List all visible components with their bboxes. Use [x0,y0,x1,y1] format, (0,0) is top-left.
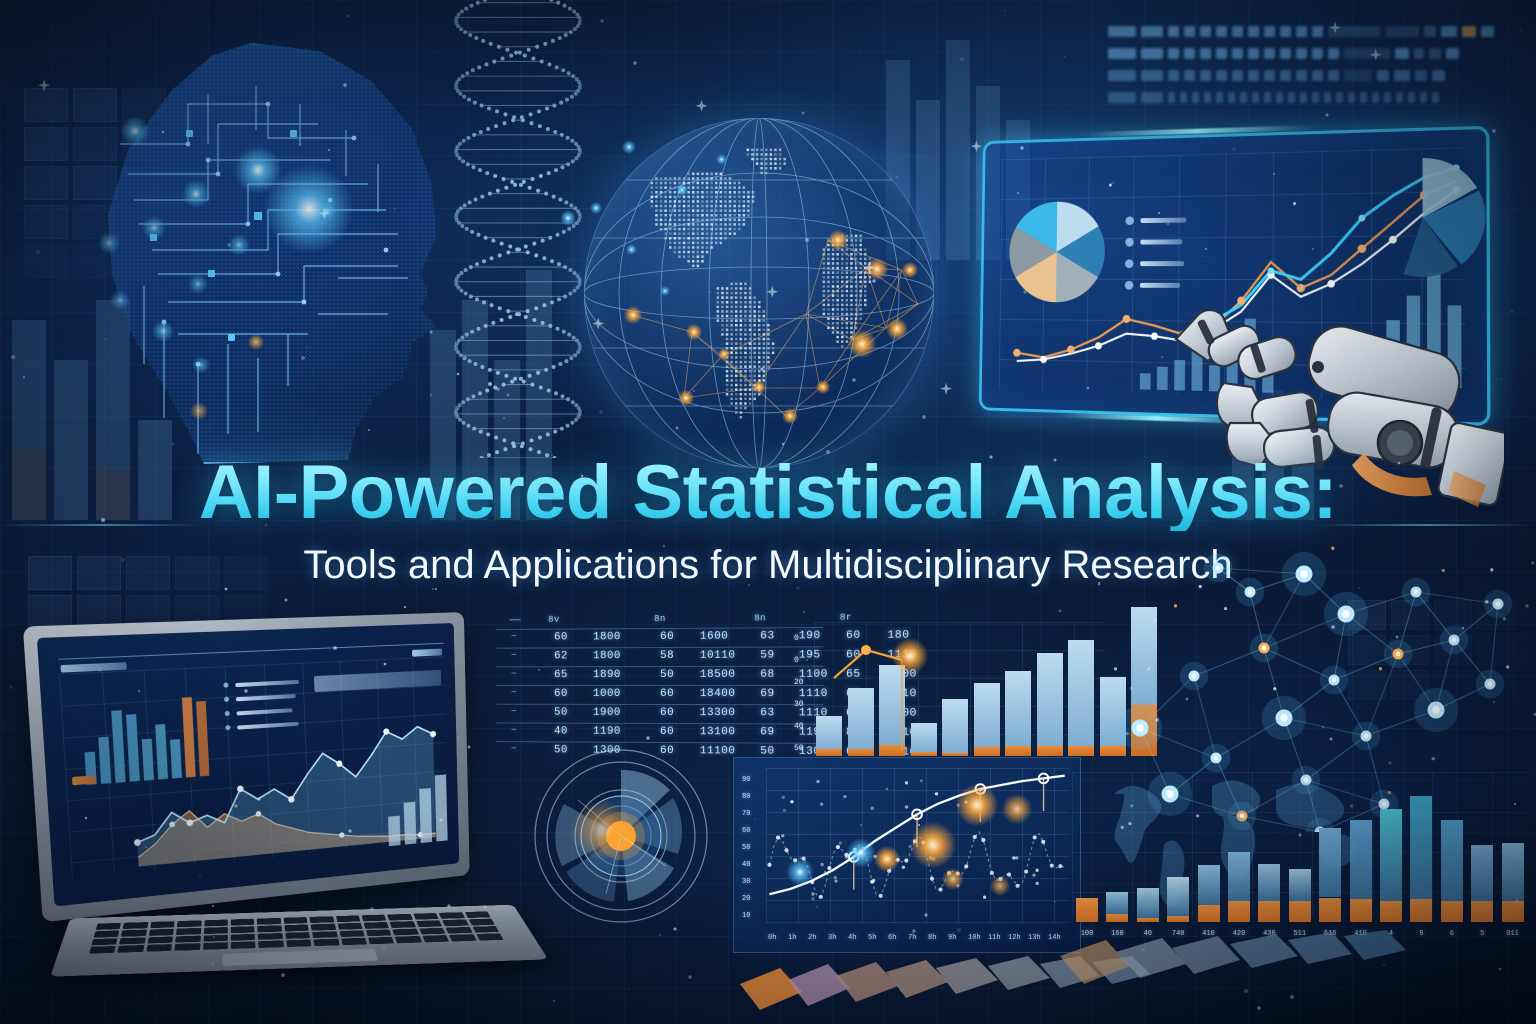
table-cell: 10110 [700,650,736,662]
x-axis-tick-label: 7h [908,934,916,942]
table-cell: 60 [660,707,674,719]
bar-segment-orange [1167,916,1189,922]
laptop-key[interactable] [203,942,228,949]
abstract-data-rows [1108,22,1528,126]
laptop-key[interactable] [148,936,174,943]
table-row-label: — [512,651,517,660]
table-cell: 58 [660,650,674,662]
laptop-key[interactable] [472,926,499,933]
cover-graphic: AI-Powered Statistical Analysis: Tools a… [0,0,1536,1024]
laptop-key[interactable] [123,922,148,929]
x-axis-tick-label: 011 [1502,930,1524,938]
table-cell: 59 [760,650,774,662]
laptop-key[interactable] [468,918,495,925]
laptop-key[interactable] [118,945,145,953]
table-cell: 60 [554,632,568,644]
tilted-pane-row-right [1060,926,1480,1024]
bar-segment-blue [1198,865,1220,905]
bar-segment-orange [1350,899,1372,922]
laptop-key[interactable] [309,916,334,923]
laptop-key[interactable] [231,934,256,941]
laptop-key[interactable] [283,917,307,924]
table-cell: 68 [760,669,774,681]
page-title: AI-Powered Statistical Analysis: [0,455,1536,531]
laptop-key[interactable] [258,925,282,932]
bar-segment-orange [1076,898,1098,923]
table-cell: 69 [760,688,774,700]
table-cell: 63 [760,707,774,719]
y-axis-tick-label: 60 [742,827,750,835]
laptop-key[interactable] [176,928,201,935]
bar [1350,820,1372,922]
bar-segment-blue [1167,877,1189,917]
mid-chart-overlay-line [810,616,1110,766]
table-row-divider [496,722,823,724]
bar-segment-orange [1502,901,1524,922]
x-axis-tick-label: 6h [888,934,896,942]
bar-segment-orange [1198,905,1220,922]
laptop-key[interactable] [91,938,118,945]
laptop-key[interactable] [341,938,367,945]
bottom-right-stacked-bar-chart: 100160407404104204305116164104965011 [1062,772,1536,948]
bar [1380,809,1402,922]
bar [1137,888,1159,922]
laptop-key[interactable] [231,926,255,933]
table-cell: 18500 [700,669,736,681]
mid-stacked-bar-chart: 0020304050 [792,616,1110,774]
table-cell: 60 [660,688,674,700]
table-row-label: — [512,707,517,716]
table-cell: 69 [760,726,774,738]
laptop-key[interactable] [177,920,201,927]
y-axis-tick-label: 30 [742,878,750,886]
table-row-divider [496,741,823,744]
laptop-trackpad[interactable] [221,948,379,966]
bar-segment-orange [1319,898,1341,923]
bar [1289,869,1311,922]
legend-bullet [224,697,229,702]
laptop-key[interactable] [366,929,392,936]
laptop-keys[interactable] [89,911,503,953]
laptop-key[interactable] [258,933,283,940]
table-cell: 60 [660,631,674,643]
laptop-key[interactable] [231,919,255,926]
screen-header-value [412,649,442,657]
table-cell: 1190 [593,726,621,738]
laptop-device [18,620,538,1024]
table-row-divider [496,685,823,686]
table-cell: 50 [760,746,774,758]
laptop-key[interactable] [464,911,490,918]
laptop-key[interactable] [337,923,362,930]
table-row-label: — [512,725,517,734]
y-axis-tick-label: 20 [794,678,804,687]
x-axis-tick-label: 3h [828,934,836,942]
x-axis-tick-label: 12h [1008,934,1021,942]
bar-segment-blue [1380,809,1402,901]
laptop-key[interactable] [361,915,386,922]
bar-segment-orange [1471,901,1493,922]
bar-segment-blue [1106,892,1128,915]
bar [1106,892,1128,922]
bar-segment-orange [1410,899,1432,922]
laptop-key[interactable] [284,924,309,931]
laptop-yaxis-highlight [72,775,96,785]
laptop-key[interactable] [204,920,228,927]
laptop-key[interactable] [121,929,147,936]
laptop-key[interactable] [476,933,503,940]
y-axis-tick-label: 70 [742,810,750,818]
bar-segment-blue [1228,852,1250,901]
table-row-divider [496,666,823,668]
y-axis-tick-label: 40 [742,861,750,869]
x-axis-tick-label: 14h [1048,934,1061,942]
laptop-key[interactable] [390,921,416,928]
laptop-key[interactable] [442,919,468,926]
table-cell: 1890 [593,669,621,681]
laptop-key[interactable] [395,936,422,943]
x-axis-tick-label: 10h [968,934,981,942]
bar-segment-orange [1441,901,1463,922]
bar-segment-orange [1258,901,1280,922]
y-axis-tick-label: 50 [742,844,750,852]
bar-segment-blue [1350,820,1372,899]
table-cell: 62 [554,650,568,662]
laptop-key[interactable] [419,928,445,935]
x-axis-tick-label: 2h [808,934,816,942]
y-axis-tick-label: 0 [794,634,799,643]
laptop-key[interactable] [393,928,419,935]
table-cell: 50 [660,669,674,681]
bar-segment-orange [1106,914,1128,922]
laptop-key[interactable] [259,941,284,948]
laptop-key[interactable] [339,930,365,937]
table-column-header: 8n [754,613,766,623]
table-column-header: —— [510,615,521,625]
laptop-key[interactable] [231,941,256,948]
laptop-key[interactable] [313,939,339,946]
table-row-label: — [512,744,517,753]
laptop-key[interactable] [257,918,281,925]
laptop-key[interactable] [368,937,394,944]
bar [1319,828,1341,922]
bar-segment-blue [1502,843,1524,901]
y-axis-tick-label: 40 [794,722,804,731]
table-row-label: — [512,688,517,697]
table-cell: 60 [660,726,674,738]
y-axis-tick-label: 20 [742,895,750,903]
table-column-header: 8v [548,615,559,625]
y-axis-tick-label: 80 [742,793,750,801]
y-axis-tick-label: 50 [794,744,804,753]
laptop-key[interactable] [89,946,116,954]
laptop-screen[interactable] [37,623,459,906]
bar [1228,852,1250,922]
laptop-key[interactable] [175,943,201,951]
bar-segment-blue [1289,869,1311,901]
x-axis-tick-label: 11h [988,934,1001,942]
bar [1167,877,1189,922]
bar [1198,865,1220,922]
table-cell: 1000 [593,688,621,700]
laptop-lid [23,612,470,922]
table-cell: 1600 [700,631,728,643]
wireframe-globe [566,118,962,458]
dashboard-pie-chart-secondary [1356,151,1491,284]
legend-bullet [223,682,228,687]
laptop-key[interactable] [285,932,310,939]
laptop-key[interactable] [446,927,473,934]
laptop-key[interactable] [94,930,120,937]
bar-segment-blue [1319,828,1341,898]
bar-segment-orange [1289,901,1311,922]
laptop-key[interactable] [416,920,442,927]
globe-wireframe [566,118,962,478]
laptop-key[interactable] [203,934,228,941]
laptop-key[interactable] [286,940,312,947]
table-cell: 1800 [593,631,621,643]
bar [1258,864,1280,922]
laptop-key[interactable] [312,931,337,938]
laptop-key[interactable] [120,937,146,944]
laptop-key[interactable] [311,923,336,930]
scatter-trend-panel: 908070605040302010 0h1h2h3h4h5h6h7h8h9h1… [733,757,1081,953]
x-axis-tick-label: 4h [848,934,856,942]
table-cell: 40 [554,726,568,738]
bar-segment-blue [1137,888,1159,918]
laptop-keyboard-deck[interactable] [50,905,548,977]
laptop-key[interactable] [175,935,200,942]
table-cell: 50 [554,707,568,719]
x-axis-tick-label: 13h [1028,934,1041,942]
bar-segment-orange [1228,901,1250,922]
bar [1410,796,1432,922]
legend-bullet [225,711,230,716]
table-cell: 1900 [593,707,621,719]
bar-segment-blue [1471,845,1493,902]
y-axis-tick-label: 10 [742,912,750,920]
laptop-key[interactable] [150,921,175,928]
x-axis-tick-label: 9h [948,934,956,942]
laptop-key[interactable] [204,927,228,934]
table-cell: 18400 [700,688,736,700]
y-axis-tick-label: 30 [794,700,804,709]
table-row-label: — [512,669,517,678]
table-row-divider [496,646,823,648]
laptop-key[interactable] [422,935,449,942]
bar-segment-blue [1441,820,1463,901]
laptop-key[interactable] [364,922,390,929]
bar [1471,845,1493,922]
table-cell: 13100 [700,726,736,738]
bar-segment-orange [1380,901,1402,922]
table-column-header: 8n [654,614,666,624]
digital-human-head [68,34,468,464]
data-table: ——8v8n8n8r—6018006016006319060180—621800… [496,613,836,766]
bar [1441,820,1463,922]
table-row-label: — [512,632,517,641]
laptop-key[interactable] [149,929,174,936]
x-axis-tick-label: 8h [928,934,936,942]
table-row-divider [496,704,823,706]
table-cell: 65 [554,669,568,681]
laptop-key[interactable] [336,915,361,922]
laptop-bar-chart-right [385,771,452,846]
bar [1076,898,1098,923]
x-axis-tick-label: 5h [868,934,876,942]
bar-segment-blue [1258,864,1280,902]
table-cell: 1800 [593,650,621,662]
laptop-key[interactable] [387,914,412,921]
y-axis-tick-label: 90 [742,776,750,784]
bar-segment-blue [1410,796,1432,900]
bar-segment-orange [1137,918,1159,922]
table-cell: 60 [554,688,568,700]
hud-core-glow [572,800,632,860]
laptop-key[interactable] [413,913,439,920]
x-axis-tick-label: 0h [768,934,776,942]
laptop-key[interactable] [439,912,465,919]
y-axis-tick-label: 0 [794,656,799,665]
x-axis-tick-label: 1h [788,934,796,942]
table-cell: 13300 [700,707,736,719]
laptop-key[interactable] [146,944,172,952]
laptop-key[interactable] [96,923,122,930]
bar [1502,843,1524,922]
table-cell: 63 [760,630,774,642]
laptop-key[interactable] [449,934,476,941]
